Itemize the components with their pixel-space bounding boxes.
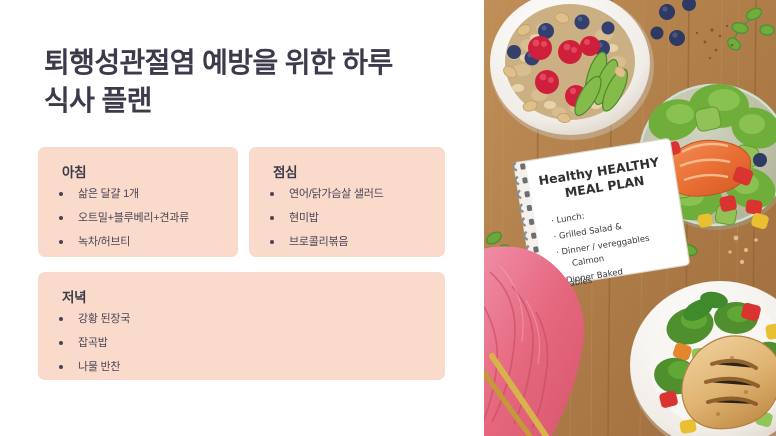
bullet-icon <box>59 341 63 345</box>
list-item-label: 강황 된장국 <box>78 313 130 325</box>
meal-list-lunch: 연어/닭가슴살 샐러드 현미밥 브로콜리볶음 <box>265 188 429 250</box>
meal-card-dinner: 저녁 강황 된장국 잡곡밥 나물 반찬 <box>38 272 445 380</box>
bullet-icon <box>59 317 63 321</box>
list-item: 나물 반찬 <box>54 361 429 374</box>
list-item: 현미밥 <box>265 212 429 225</box>
list-item-label: 연어/닭가슴살 샐러드 <box>289 188 383 200</box>
meal-list-dinner: 강황 된장국 잡곡밥 나물 반찬 <box>54 313 429 375</box>
meal-card-breakfast: 아침 삶은 달걀 1개 오트밀+블루베리+견과류 녹차/허브티 <box>38 147 238 257</box>
page-title: 퇴행성관절염 예방을 위한 하루 식사 플랜 <box>44 44 448 120</box>
bullet-icon <box>270 192 274 196</box>
card-heading-breakfast: 아침 <box>62 161 222 181</box>
meal-photo-illustration: Healthy HEALTHY MEAL PLAN · Lunch: · Gri… <box>484 0 776 436</box>
meal-photo: Healthy HEALTHY MEAL PLAN · Lunch: · Gri… <box>484 0 776 436</box>
list-item: 잡곡밥 <box>54 337 429 350</box>
list-item: 연어/닭가슴살 샐러드 <box>265 188 429 201</box>
bullet-icon <box>59 365 63 369</box>
list-item-label: 잡곡밥 <box>78 337 108 349</box>
card-heading-dinner: 저녁 <box>62 286 429 306</box>
bullet-icon <box>59 240 63 244</box>
bullet-icon <box>59 216 63 220</box>
content-pane: 퇴행성관절염 예방을 위한 하루 식사 플랜 아침 삶은 달걀 1개 오트밀+블… <box>0 0 484 436</box>
list-item: 강황 된장국 <box>54 313 429 326</box>
bullet-icon <box>270 240 274 244</box>
card-heading-lunch: 점심 <box>273 161 429 181</box>
list-item: 오트밀+블루베리+견과류 <box>54 212 222 225</box>
list-item-label: 현미밥 <box>289 212 319 224</box>
slide-root: 퇴행성관절염 예방을 위한 하루 식사 플랜 아침 삶은 달걀 1개 오트밀+블… <box>0 0 776 436</box>
list-item-label: 브로콜리볶음 <box>289 236 348 248</box>
list-item: 브로콜리볶음 <box>265 236 429 249</box>
list-item: 삶은 달걀 1개 <box>54 188 222 201</box>
bullet-icon <box>270 216 274 220</box>
meal-list-breakfast: 삶은 달걀 1개 오트밀+블루베리+견과류 녹차/허브티 <box>54 188 222 250</box>
bullet-icon <box>59 192 63 196</box>
meal-card-lunch: 점심 연어/닭가슴살 샐러드 현미밥 브로콜리볶음 <box>249 147 445 257</box>
list-item-label: 삶은 달걀 1개 <box>78 188 139 200</box>
list-item-label: 나물 반찬 <box>78 361 120 373</box>
list-item-label: 녹차/허브티 <box>78 236 130 248</box>
list-item-label: 오트밀+블루베리+견과류 <box>78 212 189 224</box>
list-item: 녹차/허브티 <box>54 236 222 249</box>
